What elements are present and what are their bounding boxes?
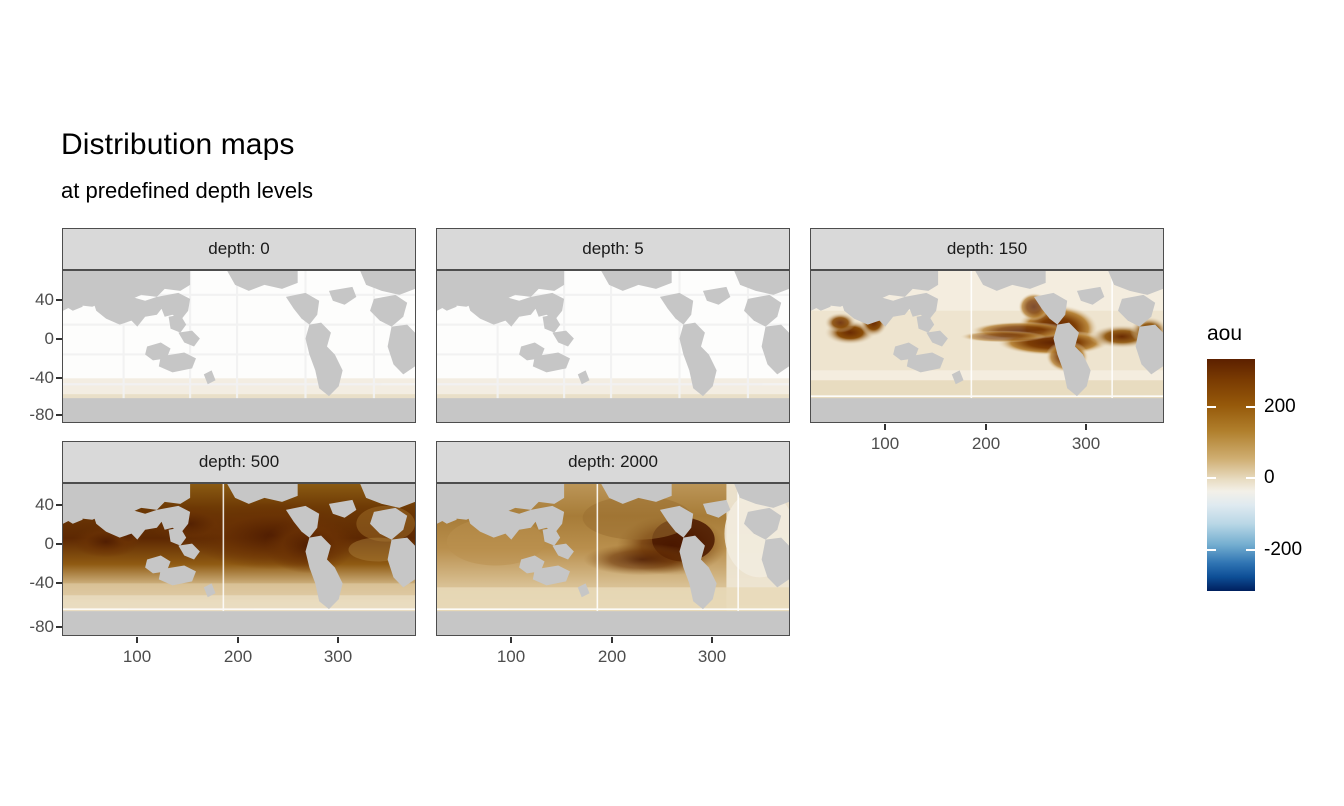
legend-tick-mark	[1246, 406, 1255, 408]
x-tick-label-300-row2a: 300	[308, 647, 368, 667]
panel-plot-depth-0	[62, 270, 416, 423]
x-tick-mark	[510, 637, 512, 643]
legend-title: aou	[1207, 322, 1242, 346]
y-tick-label-40-row1: 40	[14, 290, 54, 310]
page-subtitle: at predefined depth levels	[61, 178, 313, 204]
x-tick-label-100-row2a: 100	[107, 647, 167, 667]
x-tick-mark	[337, 637, 339, 643]
legend-colorbar	[1207, 359, 1255, 591]
panel-plot-depth-150	[810, 270, 1164, 423]
world-map-depth-500	[63, 484, 415, 635]
panel-plot-depth-5	[436, 270, 790, 423]
world-map-depth-5	[437, 271, 789, 422]
x-tick-label-300-row2b: 300	[682, 647, 742, 667]
panel-strip-depth-5: depth: 5	[436, 228, 790, 270]
y-tick-label-40-row2: 40	[14, 495, 54, 515]
y-tick-label-0-row2: 0	[14, 534, 54, 554]
panel-strip-depth-2000: depth: 2000	[436, 441, 790, 483]
legend-label-200: 200	[1264, 396, 1296, 418]
panel-depth-500: depth: 500	[62, 441, 416, 636]
x-tick-label-100-row2b: 100	[481, 647, 541, 667]
world-map-depth-2000	[437, 484, 789, 635]
page-title: Distribution maps	[61, 128, 294, 162]
x-tick-mark	[1085, 424, 1087, 430]
x-tick-label-200-row1: 200	[956, 434, 1016, 454]
legend-tick-mark	[1207, 549, 1216, 551]
panel-strip-depth-0: depth: 0	[62, 228, 416, 270]
y-tick-label-m80-row2: -80	[8, 617, 54, 637]
x-tick-mark	[136, 637, 138, 643]
world-map-depth-0	[63, 271, 415, 422]
panel-strip-depth-150: depth: 150	[810, 228, 1164, 270]
panel-strip-label: depth: 500	[199, 452, 279, 472]
x-tick-mark	[884, 424, 886, 430]
panel-strip-label: depth: 0	[208, 239, 269, 259]
x-tick-mark	[611, 637, 613, 643]
panel-depth-5: depth: 5	[436, 228, 790, 423]
legend-tick-mark	[1207, 477, 1216, 479]
panel-strip-label: depth: 5	[582, 239, 643, 259]
x-tick-mark	[985, 424, 987, 430]
panel-strip-label: depth: 150	[947, 239, 1027, 259]
x-tick-label-200-row2a: 200	[208, 647, 268, 667]
x-tick-label-200-row2b: 200	[582, 647, 642, 667]
y-tick-label-m80-row1: -80	[8, 405, 54, 425]
panel-strip-label: depth: 2000	[568, 452, 658, 472]
x-tick-mark	[711, 637, 713, 643]
y-tick-label-m40-row1: -40	[8, 368, 54, 388]
panel-strip-depth-500: depth: 500	[62, 441, 416, 483]
legend-tick-mark	[1207, 406, 1216, 408]
panel-depth-0: depth: 0	[62, 228, 416, 423]
legend-label-m200: -200	[1264, 539, 1302, 561]
legend-tick-mark	[1246, 477, 1255, 479]
y-tick-label-0-row1: 0	[14, 329, 54, 349]
x-tick-mark	[237, 637, 239, 643]
y-tick-label-m40-row2: -40	[8, 573, 54, 593]
panel-plot-depth-500	[62, 483, 416, 636]
panel-depth-2000: depth: 2000	[436, 441, 790, 636]
panel-depth-150: depth: 150	[810, 228, 1164, 423]
x-tick-label-300-row1: 300	[1056, 434, 1116, 454]
world-map-depth-150	[811, 271, 1163, 422]
x-tick-label-100-row1: 100	[855, 434, 915, 454]
legend-label-0: 0	[1264, 467, 1275, 489]
panel-plot-depth-2000	[436, 483, 790, 636]
distribution-maps-figure: Distribution maps at predefined depth le…	[0, 0, 1344, 806]
legend-tick-mark	[1246, 549, 1255, 551]
